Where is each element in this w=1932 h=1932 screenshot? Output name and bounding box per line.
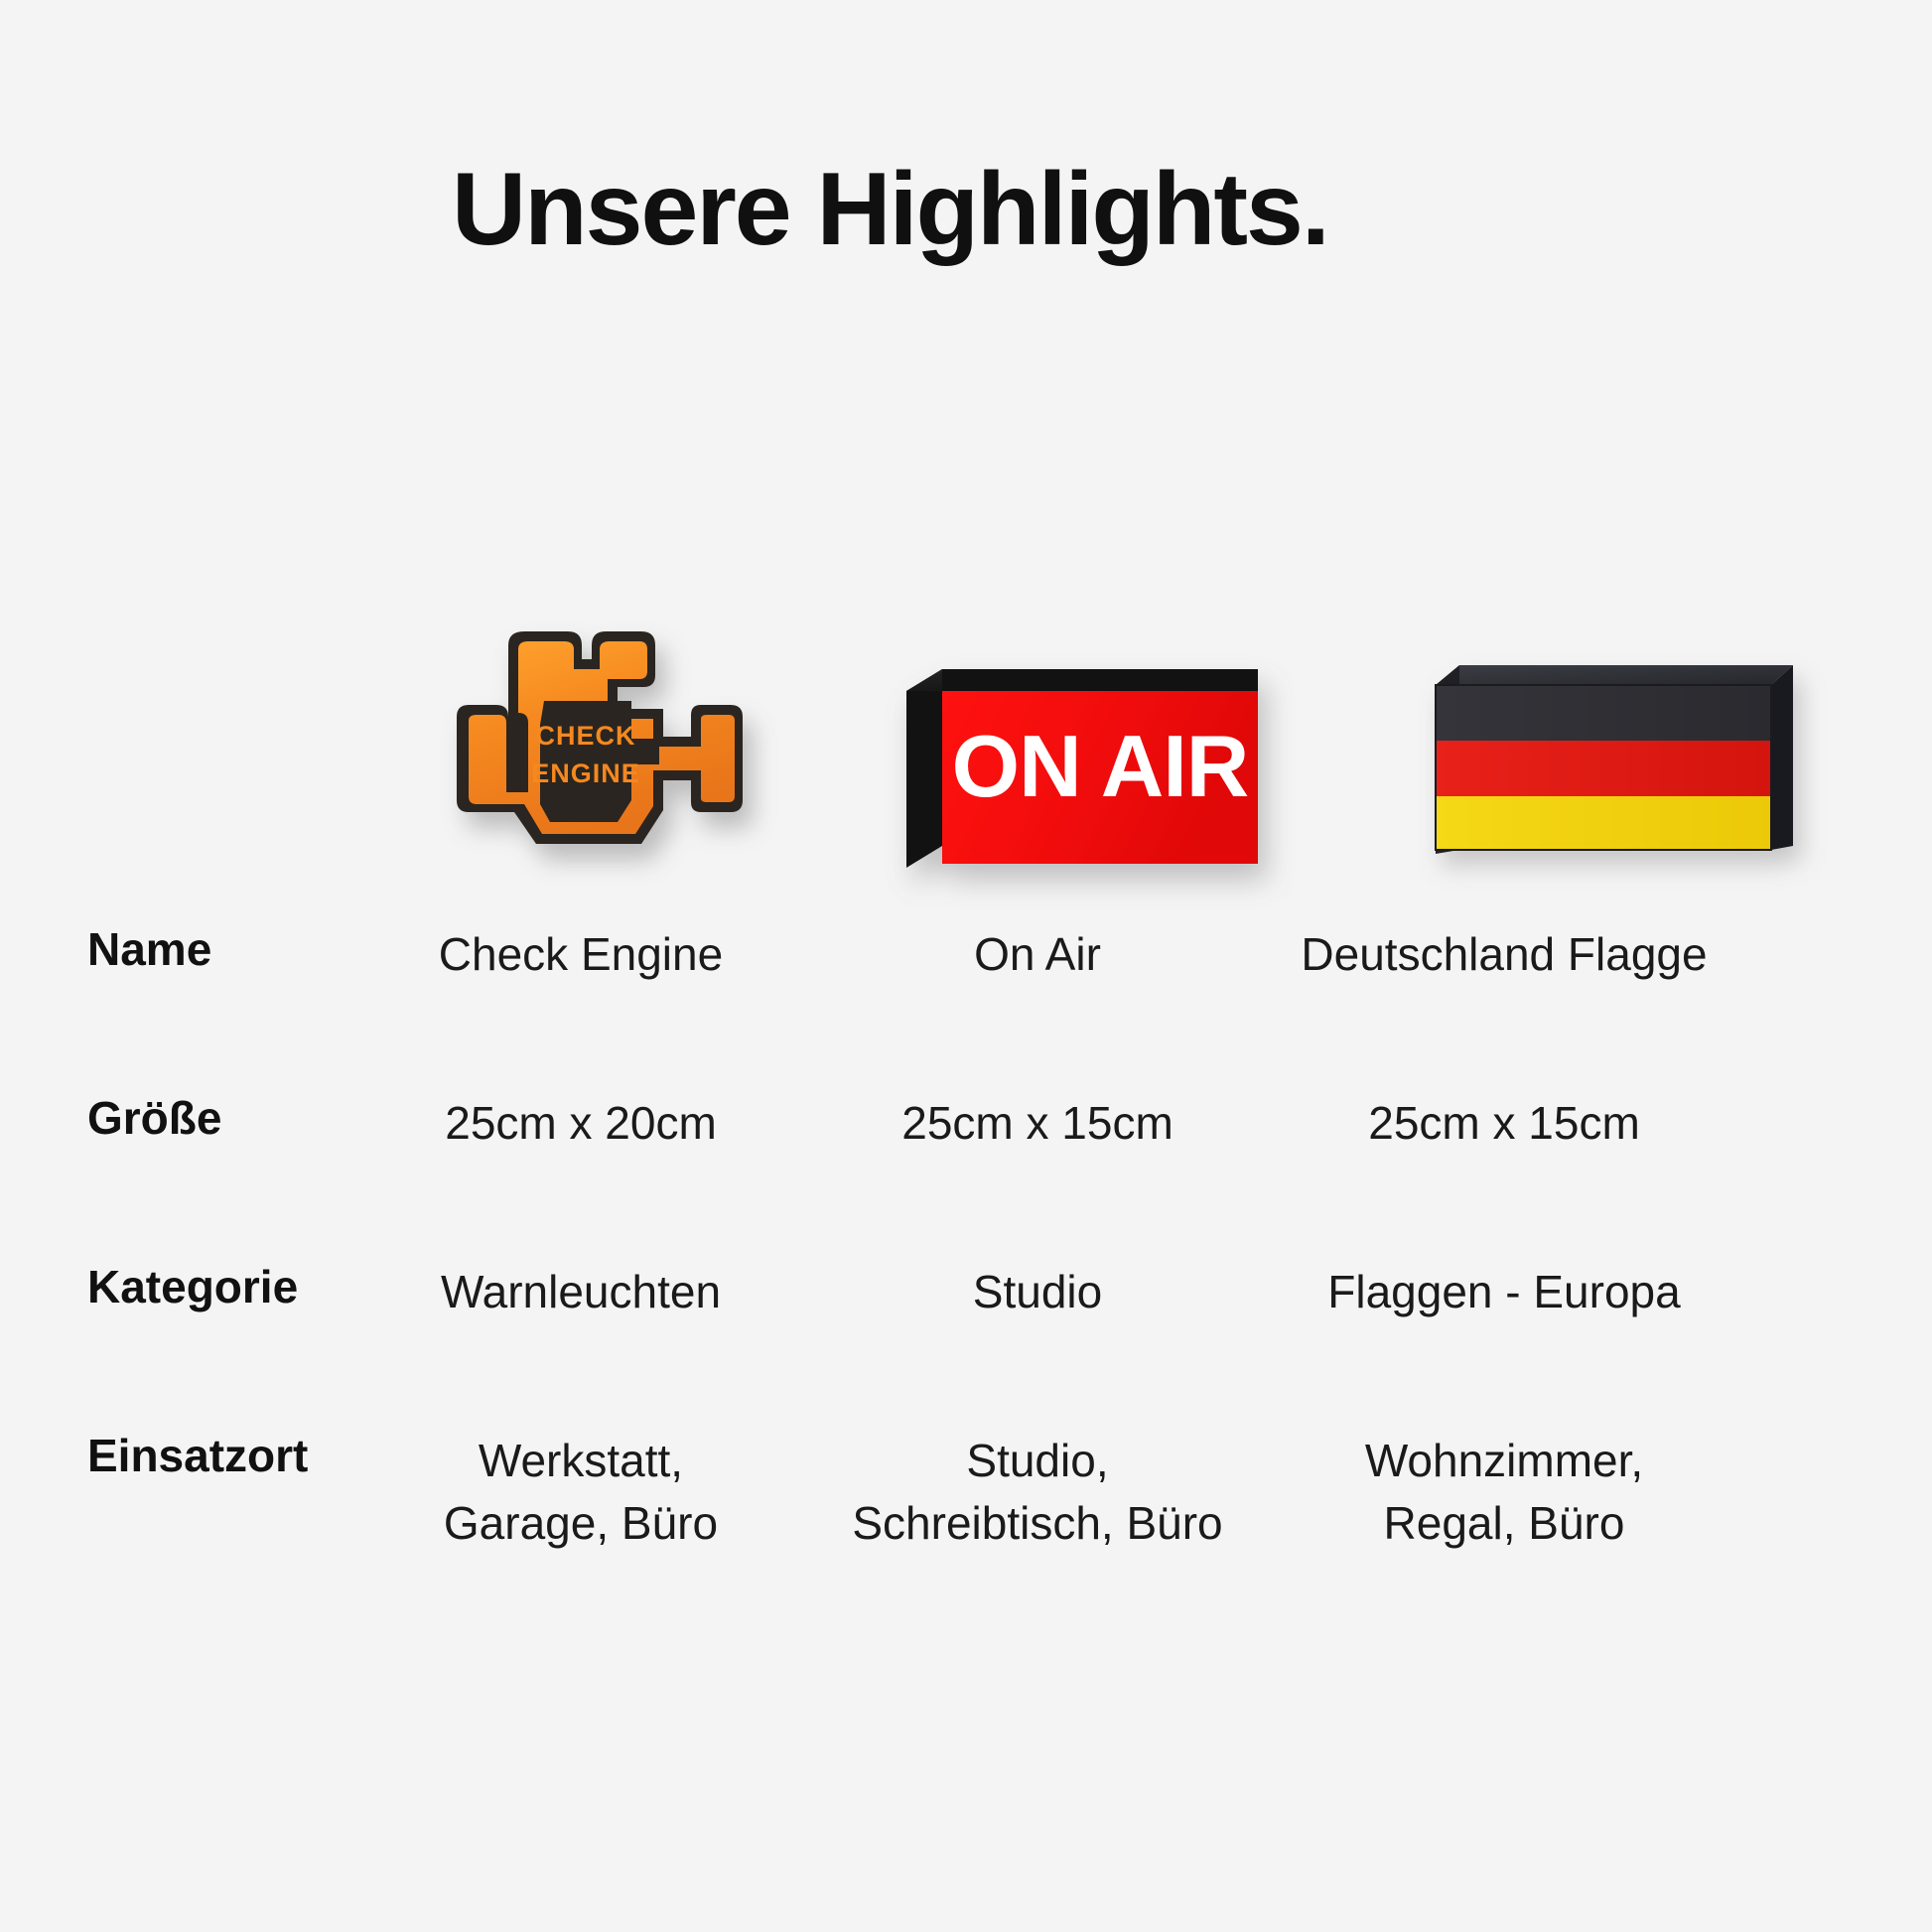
spec-table: Name Check Engine On Air Deutschland Fla… bbox=[0, 923, 1932, 1648]
table-row: Name Check Engine On Air Deutschland Fla… bbox=[0, 923, 1932, 1092]
on-air-text: ON AIR bbox=[952, 717, 1249, 815]
cell-line: Deutschland Flagge bbox=[1256, 923, 1752, 986]
cell-line: Check Engine bbox=[343, 923, 819, 986]
cell-name-on-air: On Air bbox=[819, 923, 1256, 986]
cell-line: Wohnzimmer, bbox=[1256, 1430, 1752, 1492]
cell-groesse-on-air: 25cm x 15cm bbox=[819, 1092, 1256, 1155]
product-image-check-engine[interactable]: CHECK ENGINE bbox=[397, 556, 794, 894]
row-label-einsatzort: Einsatzort bbox=[0, 1430, 343, 1482]
cell-line: Garage, Büro bbox=[343, 1492, 819, 1555]
table-row: Einsatzort Werkstatt, Garage, Büro Studi… bbox=[0, 1430, 1932, 1648]
table-row: Kategorie Warnleuchten Studio Flaggen - … bbox=[0, 1261, 1932, 1430]
table-row: Größe 25cm x 20cm 25cm x 15cm 25cm x 15c… bbox=[0, 1092, 1932, 1261]
page-title: Unsere Highlights. bbox=[452, 151, 1328, 269]
check-engine-text-line1: CHECK bbox=[535, 721, 635, 751]
cell-line: Studio bbox=[819, 1261, 1256, 1323]
cell-einsatzort-check-engine: Werkstatt, Garage, Büro bbox=[343, 1430, 819, 1556]
product-image-deutschland-flagge[interactable] bbox=[1430, 556, 1807, 894]
cell-line: Werkstatt, bbox=[343, 1430, 819, 1492]
cell-line: Regal, Büro bbox=[1256, 1492, 1752, 1555]
cell-line: 25cm x 15cm bbox=[819, 1092, 1256, 1155]
cell-line: Studio, bbox=[819, 1430, 1256, 1492]
highlights-page: Unsere Highlights. bbox=[0, 0, 1932, 1932]
cell-line: Schreibtisch, Büro bbox=[819, 1492, 1256, 1555]
product-image-on-air[interactable]: ON AIR bbox=[898, 556, 1276, 894]
row-label-name: Name bbox=[0, 923, 343, 976]
cell-line: 25cm x 15cm bbox=[1256, 1092, 1752, 1155]
cell-groesse-check-engine: 25cm x 20cm bbox=[343, 1092, 819, 1155]
cell-einsatzort-on-air: Studio, Schreibtisch, Büro bbox=[819, 1430, 1256, 1556]
cell-name-check-engine: Check Engine bbox=[343, 923, 819, 986]
on-air-lightbox-icon: ON AIR bbox=[898, 657, 1266, 876]
check-engine-lamp-icon: CHECK ENGINE bbox=[397, 606, 774, 894]
cell-name-deutschland-flagge: Deutschland Flagge bbox=[1256, 923, 1752, 986]
cell-line: Warnleuchten bbox=[343, 1261, 819, 1323]
cell-kategorie-check-engine: Warnleuchten bbox=[343, 1261, 819, 1323]
cell-line: 25cm x 20cm bbox=[343, 1092, 819, 1155]
row-label-kategorie: Kategorie bbox=[0, 1261, 343, 1313]
cell-groesse-deutschland-flagge: 25cm x 15cm bbox=[1256, 1092, 1752, 1155]
cell-line: On Air bbox=[819, 923, 1256, 986]
cell-einsatzort-deutschland-flagge: Wohnzimmer, Regal, Büro bbox=[1256, 1430, 1752, 1556]
product-image-strip: CHECK ENGINE bbox=[0, 556, 1932, 894]
germany-flag-lightbox-icon bbox=[1430, 655, 1797, 869]
check-engine-text-line2: ENGINE bbox=[531, 759, 640, 788]
cell-line: Flaggen - Europa bbox=[1256, 1261, 1752, 1323]
cell-kategorie-on-air: Studio bbox=[819, 1261, 1256, 1323]
cell-kategorie-deutschland-flagge: Flaggen - Europa bbox=[1256, 1261, 1752, 1323]
row-label-groesse: Größe bbox=[0, 1092, 343, 1145]
